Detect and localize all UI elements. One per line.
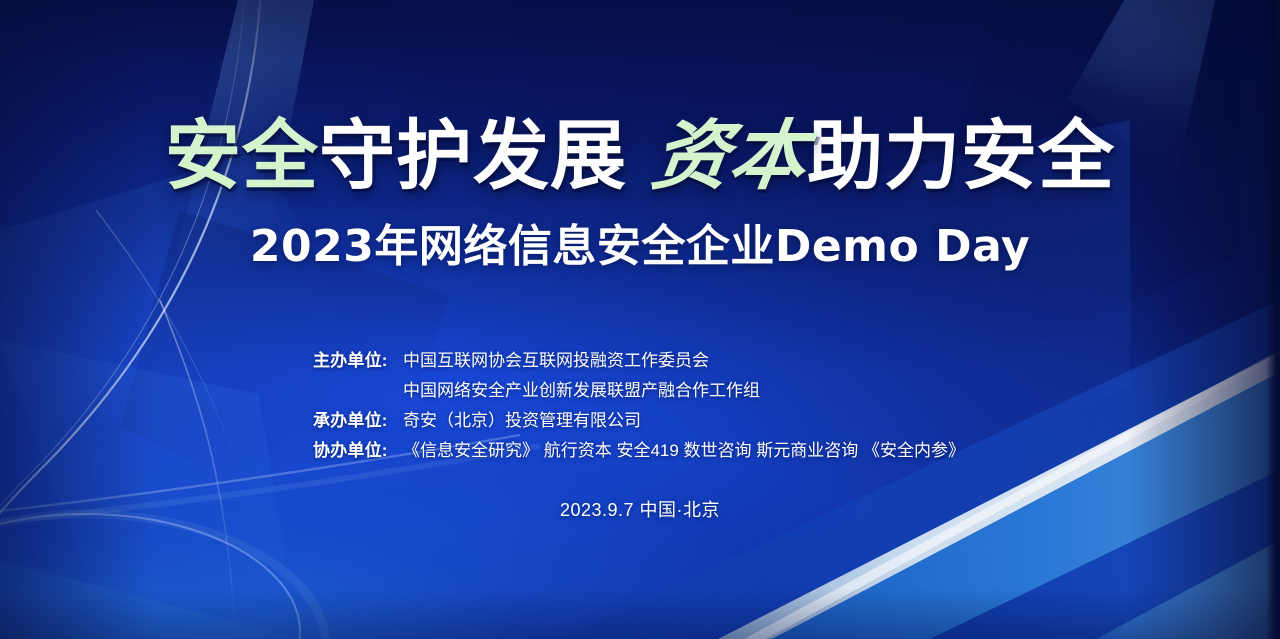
organizer-value-host: 中国互联网协会互联网投融资工作委员会 <box>399 346 709 376</box>
organizer-label-coorganizer: 协办单位: <box>313 436 399 466</box>
organizer-row-host: 主办单位: 中国互联网协会互联网投融资工作委员会 <box>313 346 709 376</box>
headline-segment-3: 资本 <box>648 118 813 194</box>
organizer-block: 主办单位: 中国互联网协会互联网投融资工作委员会 中国网络安全产业创新发展联盟产… <box>0 346 1280 466</box>
event-poster: 安全 守护发展 资本 助力安全 2023年网络信息安全企业Demo Day 主办… <box>0 0 1280 639</box>
date-location-line: 2023.9.7 中国·北京 <box>0 496 1280 522</box>
subtitle: 2023年网络信息安全企业Demo Day <box>250 210 1030 274</box>
headline-segment-1: 安全 <box>165 118 319 194</box>
organizer-row-host-secondary: 中国网络安全产业创新发展联盟产融合作工作组 <box>313 376 760 406</box>
organizer-value-organizer: 奇安（北京）投资管理有限公司 <box>399 406 641 436</box>
organizer-value-coorganizer: 《信息安全研究》 航行资本 安全419 数世咨询 斯元商业咨询 《安全内参》 <box>399 436 965 466</box>
organizer-row-organizer: 承办单位: 奇安（北京）投资管理有限公司 <box>313 406 641 436</box>
headline: 安全 守护发展 资本 助力安全 <box>165 118 1115 194</box>
headline-segment-4: 助力安全 <box>807 118 1115 194</box>
organizer-label-organizer: 承办单位: <box>313 406 399 436</box>
organizer-value-host-secondary: 中国网络安全产业创新发展联盟产融合作工作组 <box>313 376 760 406</box>
headline-segment-2: 守护发展 <box>319 118 627 194</box>
organizer-row-coorganizer: 协办单位: 《信息安全研究》 航行资本 安全419 数世咨询 斯元商业咨询 《安… <box>313 436 965 466</box>
organizer-label-host: 主办单位: <box>313 346 399 376</box>
poster-content: 安全 守护发展 资本 助力安全 2023年网络信息安全企业Demo Day 主办… <box>0 0 1280 639</box>
